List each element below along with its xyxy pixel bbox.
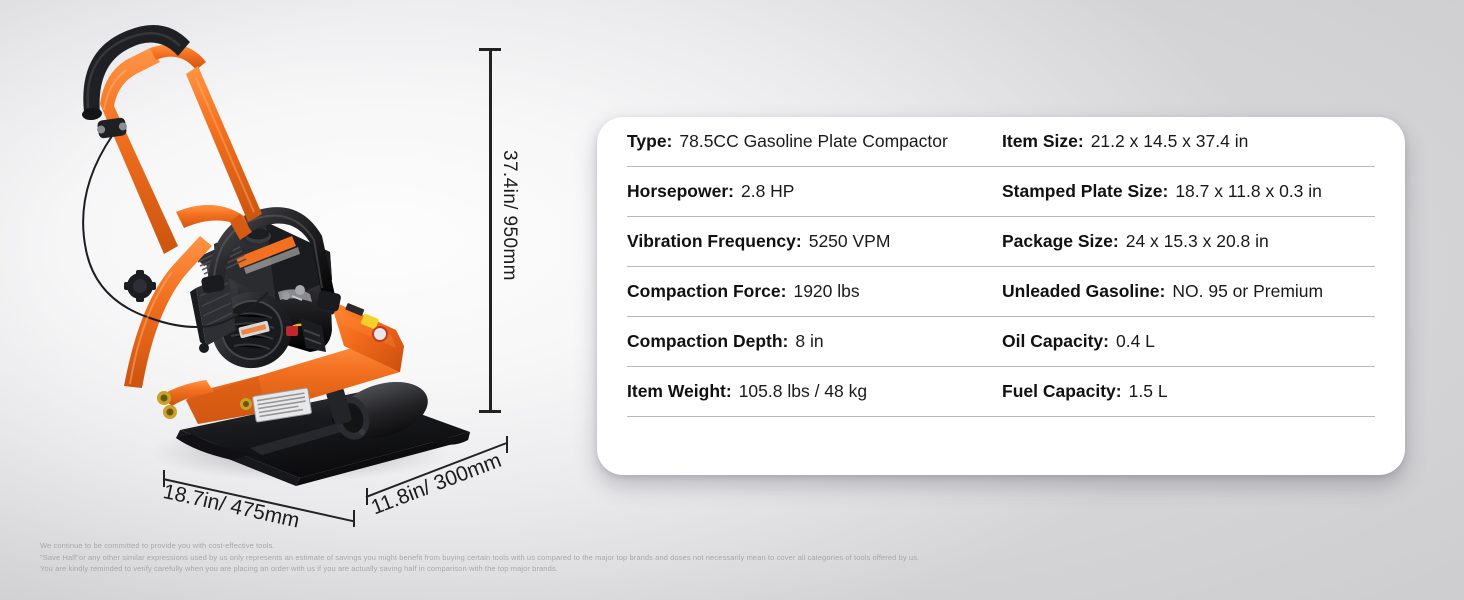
spec-cell-type: Type: 78.5CC Gasoline Plate Compactor [627,131,1002,152]
height-dimension-line [489,48,492,412]
spec-label: Compaction Depth: [627,331,788,352]
spec-value: NO. 95 or Premium [1172,281,1323,302]
spec-cell-item-size: Item Size: 21.2 x 14.5 x 37.4 in [1002,131,1375,152]
spec-label: Unleaded Gasoline: [1002,281,1165,302]
spec-row: Compaction Force: 1920 lbs Unleaded Gaso… [627,267,1375,317]
spec-label: Vibration Frequency: [627,231,802,252]
spec-label: Type: [627,131,672,152]
spec-cell-compaction-depth: Compaction Depth: 8 in [627,331,1002,352]
spec-row: Type: 78.5CC Gasoline Plate Compactor It… [627,117,1375,167]
height-dimension-cap-top [479,48,501,51]
spec-label: Package Size: [1002,231,1119,252]
spec-row: Vibration Frequency: 5250 VPM Package Si… [627,217,1375,267]
spec-cell-package-size: Package Size: 24 x 15.3 x 20.8 in [1002,231,1375,252]
spec-value: 1.5 L [1129,381,1168,402]
height-dimension-label: 37.4in/ 950mm [498,150,520,281]
spec-cell-oil-capacity: Oil Capacity: 0.4 L [1002,331,1375,352]
spec-value: 0.4 L [1116,331,1155,352]
spec-value: 105.8 lbs / 48 kg [739,381,867,402]
width-dimension-cap-left [366,488,368,505]
spec-row: Item Weight: 105.8 lbs / 48 kg Fuel Capa… [627,367,1375,417]
spec-label: Item Weight: [627,381,732,402]
specifications-card: Type: 78.5CC Gasoline Plate Compactor It… [597,117,1405,475]
disclaimer-line-1: We continue to be committed to provide y… [40,540,1440,552]
spec-label: Fuel Capacity: [1002,381,1122,402]
spec-label: Horsepower: [627,181,734,202]
spec-value: 18.7 x 11.8 x 0.3 in [1175,181,1322,202]
length-dimension-cap-right [353,510,355,527]
spec-cell-unleaded-gasoline: Unleaded Gasoline: NO. 95 or Premium [1002,281,1375,302]
product-photo-area: 37.4in/ 950mm 18.7in/ 475mm 11.8in/ 300m… [0,0,580,530]
spec-row: Horsepower: 2.8 HP Stamped Plate Size: 1… [627,167,1375,217]
spec-value: 8 in [795,331,823,352]
spec-label: Item Size: [1002,131,1084,152]
spec-label: Compaction Force: [627,281,786,302]
spec-cell-compaction-force: Compaction Force: 1920 lbs [627,281,1002,302]
disclaimer-text: We continue to be committed to provide y… [40,540,1440,575]
disclaimer-line-2: "Save Half"or any other similar expressi… [40,552,1440,564]
spec-cell-stamped-plate-size: Stamped Plate Size: 18.7 x 11.8 x 0.3 in [1002,181,1375,202]
width-dimension-cap-right [506,436,508,453]
spec-value: 78.5CC Gasoline Plate Compactor [679,131,947,152]
spec-value: 24 x 15.3 x 20.8 in [1126,231,1269,252]
height-dimension-cap-bottom [479,410,501,413]
spec-cell-item-weight: Item Weight: 105.8 lbs / 48 kg [627,381,1002,402]
spec-cell-vibration-frequency: Vibration Frequency: 5250 VPM [627,231,1002,252]
disclaimer-line-3: You are kindly reminded to verify carefu… [40,563,1440,575]
spec-value: 2.8 HP [741,181,795,202]
spec-value: 5250 VPM [809,231,891,252]
spec-cell-fuel-capacity: Fuel Capacity: 1.5 L [1002,381,1375,402]
spec-label: Oil Capacity: [1002,331,1109,352]
spec-cell-horsepower: Horsepower: 2.8 HP [627,181,1002,202]
width-dimension-label: 11.8in/ 300mm [368,449,505,521]
spec-label: Stamped Plate Size: [1002,181,1168,202]
spec-value: 1920 lbs [793,281,859,302]
spec-value: 21.2 x 14.5 x 37.4 in [1091,131,1249,152]
width-dimension: 11.8in/ 300mm [366,440,526,510]
length-dimension: 18.7in/ 475mm [163,452,368,512]
spec-row: Compaction Depth: 8 in Oil Capacity: 0.4… [627,317,1375,367]
